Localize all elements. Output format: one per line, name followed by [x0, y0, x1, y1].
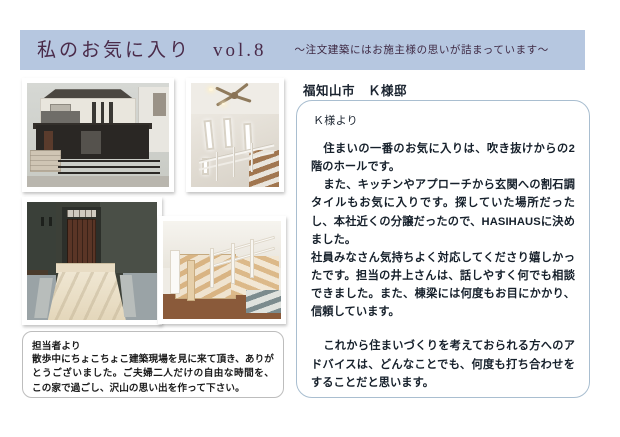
testimonial-paragraph: 社員みなさん気持ちよく対応してくださり嬉しかったです。担当の井上さんは、話しやす…: [311, 249, 575, 322]
header-subtitle: 〜注文建築にはお施主様の思いが詰まっています〜: [295, 43, 549, 57]
header-band: 私のお気に入り vol.8 〜注文建築にはお施主様の思いが詰まっています〜: [20, 30, 585, 70]
split-stone-tile-texture: [48, 272, 126, 320]
baluster: [233, 147, 235, 176]
entrance-step: [56, 263, 116, 272]
neighbor-window: [153, 93, 166, 116]
photo-house-exterior: [22, 78, 174, 192]
baluster: [251, 143, 253, 172]
staff-note-box: 担当者より 散歩中にちょこちょこ建築現場を見に来て頂き、ありがとうございました。…: [22, 331, 284, 398]
photo-stairs-under-construction-image: [163, 221, 281, 319]
garden-wall-texture: [30, 150, 61, 173]
photo-stair-hall: [186, 78, 284, 192]
page-title: 私のお気に入り vol.8: [37, 41, 267, 60]
facade-slit: [101, 102, 105, 125]
ceiling: [191, 83, 279, 114]
ceiling-fan-hub: [231, 92, 237, 98]
page-canvas: 私のお気に入り vol.8 〜注文建築にはお施主様の思いが詰まっています〜: [0, 0, 620, 437]
left-wall: [27, 202, 56, 275]
facade-slit: [92, 102, 96, 125]
front-ground: [27, 176, 169, 187]
slat-fence: [58, 160, 160, 176]
facade-slit: [109, 102, 113, 125]
entrance-glass: [81, 131, 101, 154]
stair-stringer: [187, 260, 195, 301]
wall-hook: [49, 217, 52, 225]
wall-hook: [41, 217, 44, 225]
photo-stair-hall-image: [191, 83, 279, 187]
testimonial-paragraph: 住まいの一番のお気に入りは、吹き抜けからの2階のホールです。: [311, 140, 575, 176]
balcony-panel: [41, 111, 79, 122]
testimonial-paragraph: これから住まいづくりを考えておられる方へのアドバイスは、どんなことでも、何度も打…: [311, 337, 575, 391]
photo-stairs-under-construction: [158, 216, 286, 324]
staff-note-text: 散歩中にちょこちょこ建築現場を見に来て頂き、ありがとうございました。ご夫婦二人だ…: [32, 353, 274, 396]
baluster: [210, 248, 214, 287]
photo-entrance-approach: [22, 197, 162, 325]
right-wall: [100, 202, 157, 273]
photo-entrance-approach-image: [27, 202, 157, 320]
baluster: [250, 239, 254, 278]
customer-name: 福知山市 Ｋ様邸: [303, 80, 407, 99]
photo-house-exterior-image: [27, 83, 169, 187]
newel-panel: [170, 250, 179, 293]
stair-landing-cover: [246, 290, 281, 314]
testimonial-box: Ｋ様より 住まいの一番のお気に入りは、吹き抜けからの2階のホールです。 また、キ…: [296, 100, 590, 398]
testimonial-from-label: Ｋ様より: [313, 112, 575, 128]
baluster: [216, 152, 218, 181]
door-slats: [67, 219, 96, 266]
downlight: [209, 88, 212, 91]
testimonial-paragraph: また、キッチンやアプローチから玄関への割石調タイルもお気に入りです。探していた場…: [311, 176, 575, 249]
transom-bars: [67, 210, 96, 217]
baluster: [231, 243, 235, 284]
staff-note-title: 担当者より: [32, 338, 274, 352]
